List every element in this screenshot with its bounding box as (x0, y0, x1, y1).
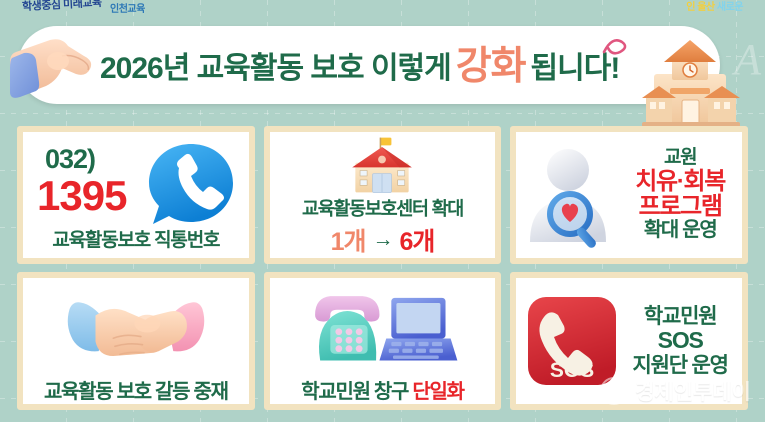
center-expansion-title: 교육활동보호센터 확대 (302, 195, 463, 221)
sos-line-2: SOS (620, 328, 740, 354)
recovery-line-3: 프로그램 (622, 194, 738, 220)
arrow-icon: → (372, 228, 392, 252)
hotline-number: 1395 (37, 172, 126, 220)
school-building-icon (636, 34, 744, 130)
single-window-caption-green: 학교민원 창구 (301, 381, 408, 403)
hotline-prefix: 032) (45, 144, 95, 175)
hotline-caption: 교육활동보호 직통번호 (23, 225, 249, 252)
telephone-laptop-icon (291, 286, 473, 369)
recovery-program-text: 교원 치유·회복 프로그램 확대 운영 (622, 148, 742, 242)
card-recovery-program[interactable]: 교원 치유·회복 프로그램 확대 운영 (510, 126, 748, 264)
center-expansion-counts: 1개 → 6개 (331, 222, 435, 258)
recovery-line-4: 확대 운영 (622, 220, 738, 242)
single-window-caption: 학교민원 창구 단일화 (301, 375, 463, 404)
conflict-mediation-caption: 교육활동 보호 갈등 중재 (44, 375, 228, 404)
title-banner: 2026년 교육활동 보호 이렇게 강화 됩니다! (18, 26, 720, 104)
recovery-line-2: 치유·회복 (622, 169, 738, 195)
person-heart-magnifier-icon (518, 142, 622, 248)
right-logo-a: 인 (686, 2, 695, 13)
sos-line-1: 학교민원 (620, 305, 740, 329)
handshake-icon (46, 288, 226, 369)
card-grid: 032) 1395 교육활동보호 직통번호 (17, 126, 748, 410)
count-to: 6개 (399, 222, 434, 258)
card-sos-support[interactable]: SOS 학교민원 SOS 지원단 운영 (510, 272, 748, 410)
page-title: 2026년 교육활동 보호 이렇게 강화 됩니다! (100, 26, 619, 104)
title-highlight: 강화 (456, 47, 526, 86)
single-window-caption-red: 단일화 (412, 381, 463, 403)
count-from: 1개 (331, 222, 366, 258)
card-single-window[interactable]: 학교민원 창구 단일화 (264, 272, 502, 410)
infographic-page: 학생중심 미래교육 인천교육 인 울산 새로운 2 (0, 0, 765, 422)
right-logo-c: 새로운 (717, 2, 743, 13)
pointing-hand-icon (10, 34, 108, 108)
top-logo-strip: 학생중심 미래교육 인천교육 인 울산 새로운 (0, 0, 765, 24)
phone-bubble-icon (145, 140, 237, 232)
card-hotline[interactable]: 032) 1395 교육활동보호 직통번호 (17, 126, 255, 264)
recovery-line-1: 교원 (622, 148, 738, 169)
left-logo-text-secondary: 인천교육 (110, 0, 145, 15)
card-center-expansion[interactable]: 교육활동보호센터 확대 1개 → 6개 (264, 126, 502, 264)
card-conflict-mediation[interactable]: 교육활동 보호 갈등 중재 (17, 272, 255, 410)
sos-phone-icon: SOS (524, 293, 620, 389)
title-text-before: 2026년 교육활동 보호 이렇게 (100, 43, 451, 87)
ribbon-swoosh-icon (602, 34, 632, 58)
left-logo-text: 학생중심 미래교육 (22, 0, 102, 14)
sos-line-3: 지원단 운영 (620, 354, 740, 378)
sos-support-text: 학교민원 SOS 지원단 운영 (620, 305, 742, 378)
school-building-icon (328, 136, 436, 194)
sos-icon-label: SOS (550, 359, 594, 382)
right-logo-b: 울산 (697, 2, 714, 13)
right-logo-text: 인 울산 새로운 (686, 0, 743, 13)
